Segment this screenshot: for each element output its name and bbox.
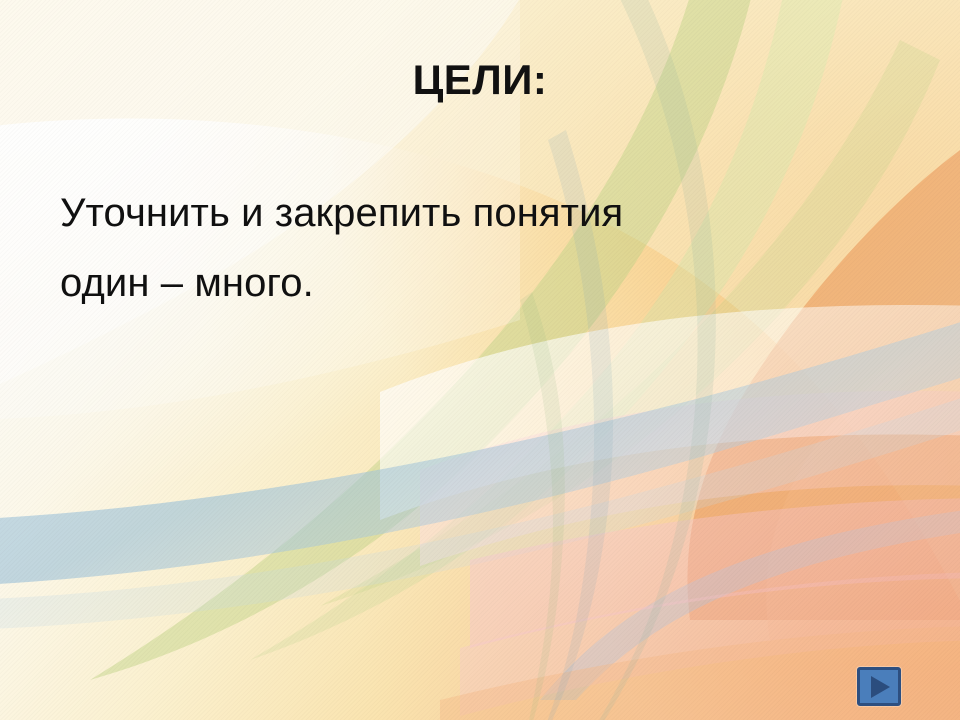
- slide-body: Уточнить и закрепить понятия один – мног…: [60, 178, 790, 318]
- body-line-2: один – много.: [60, 248, 790, 318]
- background-base-gradient: [0, 0, 960, 720]
- background-texture-overlay: [0, 0, 960, 720]
- next-slide-button[interactable]: [857, 667, 901, 706]
- play-triangle-icon: [871, 676, 890, 698]
- body-line-1: Уточнить и закрепить понятия: [60, 178, 790, 248]
- background-ribbons-artwork: [0, 0, 960, 720]
- slide-title: ЦЕЛИ:: [0, 58, 960, 102]
- presentation-slide: ЦЕЛИ: Уточнить и закрепить понятия один …: [0, 0, 960, 720]
